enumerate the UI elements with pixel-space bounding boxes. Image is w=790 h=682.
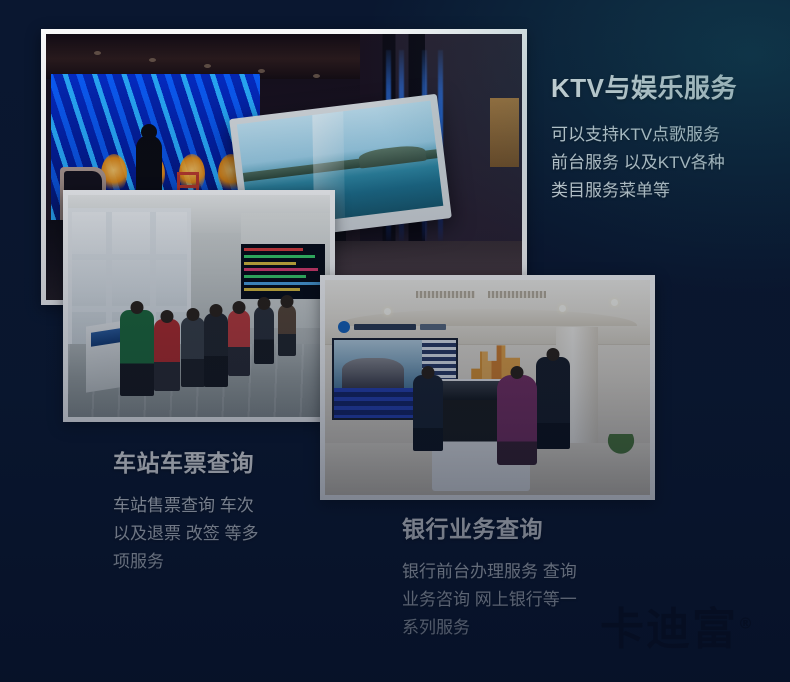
- bank-potted-plant: [605, 434, 637, 456]
- bank-scene-illustration: [325, 280, 650, 495]
- body-line: 以及退票 改签 等多: [113, 520, 258, 548]
- registered-mark-icon: ®: [738, 614, 755, 632]
- watermark-text: 卡迪富: [600, 604, 738, 655]
- brand-watermark: 卡迪富®: [600, 608, 755, 652]
- bank-ceiling: [325, 280, 650, 345]
- bank-customer: [497, 375, 537, 465]
- station-person: [254, 306, 274, 364]
- body-line: 前台服务 以及KTV各种: [551, 149, 737, 177]
- body-line: 项服务: [113, 548, 258, 576]
- text-block-ktv: KTV与娱乐服务 可以支持KTV点歌服务 前台服务 以及KTV各种 类目服务菜单…: [551, 68, 737, 205]
- section-body-station: 车站售票查询 车次 以及退票 改签 等多 项服务: [113, 492, 258, 576]
- ccb-logo-icon: [338, 321, 350, 333]
- station-departure-board: [241, 244, 325, 300]
- promo-page: KTV与娱乐服务 可以支持KTV点歌服务 前台服务 以及KTV各种 类目服务菜单…: [0, 0, 790, 682]
- bank-brand-logo: [338, 321, 446, 334]
- station-person: [204, 313, 228, 387]
- station-person: [228, 310, 250, 376]
- section-body-bank: 银行前台办理服务 查询 业务咨询 网上银行等一 系列服务: [402, 558, 577, 642]
- station-person: [154, 319, 180, 391]
- body-line: 车站售票查询 车次: [113, 492, 258, 520]
- station-person: [120, 310, 154, 396]
- section-body-ktv: 可以支持KTV点歌服务 前台服务 以及KTV各种 类目服务菜单等: [551, 121, 737, 205]
- station-scene-illustration: [68, 195, 330, 417]
- section-title-bank: 银行业务查询: [402, 510, 577, 544]
- body-line: 类目服务菜单等: [551, 177, 737, 205]
- station-person: [278, 304, 296, 356]
- ktv-ceiling: [46, 34, 389, 79]
- body-line: 业务咨询 网上银行等一: [402, 586, 577, 614]
- section-title-station: 车站车票查询: [113, 444, 258, 478]
- photo-bank-branch: [320, 275, 655, 500]
- bank-staff: [536, 357, 570, 449]
- text-block-station: 车站车票查询 车站售票查询 车次 以及退票 改签 等多 项服务: [113, 444, 258, 576]
- text-block-bank: 银行业务查询 银行前台办理服务 查询 业务咨询 网上银行等一 系列服务: [402, 510, 577, 642]
- body-line: 可以支持KTV点歌服务: [551, 121, 737, 149]
- station-person: [181, 317, 205, 387]
- section-title-ktv: KTV与娱乐服务: [551, 68, 737, 105]
- body-line: 银行前台办理服务 查询: [402, 558, 577, 586]
- photo-train-station: [63, 190, 335, 422]
- bank-teller: [413, 375, 443, 451]
- body-line: 系列服务: [402, 614, 577, 642]
